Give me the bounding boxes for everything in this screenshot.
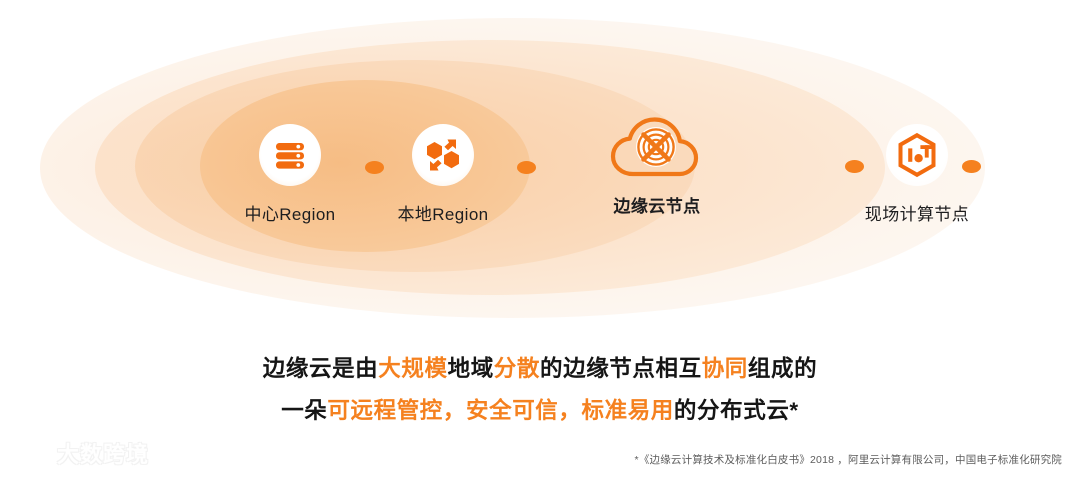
node-field-compute[interactable]: 现场计算节点: [832, 112, 1002, 225]
caption-text: 地域: [448, 356, 494, 381]
logo-mark-icon: [10, 438, 50, 469]
node-label: 中心Region: [205, 200, 375, 225]
server-stack-icon: [259, 124, 321, 186]
caption-text: 组成的: [748, 356, 817, 381]
node-edge-cloud[interactable]: 边缘云节点: [572, 104, 742, 217]
node-icon-slot: [832, 112, 1002, 198]
node-label: 本地Region: [358, 200, 528, 225]
node-icon-slot: [358, 112, 528, 198]
caption-highlight: 可远程管控，安全可信，标准易用: [327, 398, 674, 423]
caption-highlight: 协同: [702, 356, 748, 381]
infographic-canvas: 中心Region 本地Region: [0, 0, 1080, 481]
watermark: 大数跨境: [10, 437, 149, 469]
caption-block: 边缘云是由大规模地域分散的边缘节点相互协同组成的 一朵可远程管控，安全可信，标准…: [0, 348, 1080, 432]
watermark-text: 大数跨境: [57, 437, 149, 469]
caption-highlight: 大规模: [378, 356, 447, 381]
caption-highlight: 分散: [494, 356, 540, 381]
node-local-region[interactable]: 本地Region: [358, 112, 528, 225]
iot-hexagon-icon: [886, 124, 948, 186]
caption-line-2: 一朵可远程管控，安全可信，标准易用的分布式云*: [0, 390, 1080, 432]
node-label: 边缘云节点: [572, 192, 742, 217]
caption-text: 的分布式云*: [674, 398, 799, 423]
caption-text: 一朵: [281, 398, 327, 423]
caption-text: 的边缘节点相互: [540, 356, 702, 381]
node-center-region[interactable]: 中心Region: [205, 112, 375, 225]
node-label: 现场计算节点: [832, 200, 1002, 225]
node-icon-slot: [205, 112, 375, 198]
hexagon-cluster-icon: [412, 124, 474, 186]
caption-text: 边缘云是由: [263, 356, 379, 381]
node-icon-slot: [572, 104, 742, 190]
footnote-source: *《边缘云计算技术及标准化白皮书》2018 ，阿里云计算有限公司，中国电子标准化…: [635, 452, 1062, 467]
cloud-radar-icon: [609, 111, 705, 183]
caption-line-1: 边缘云是由大规模地域分散的边缘节点相互协同组成的: [0, 348, 1080, 390]
